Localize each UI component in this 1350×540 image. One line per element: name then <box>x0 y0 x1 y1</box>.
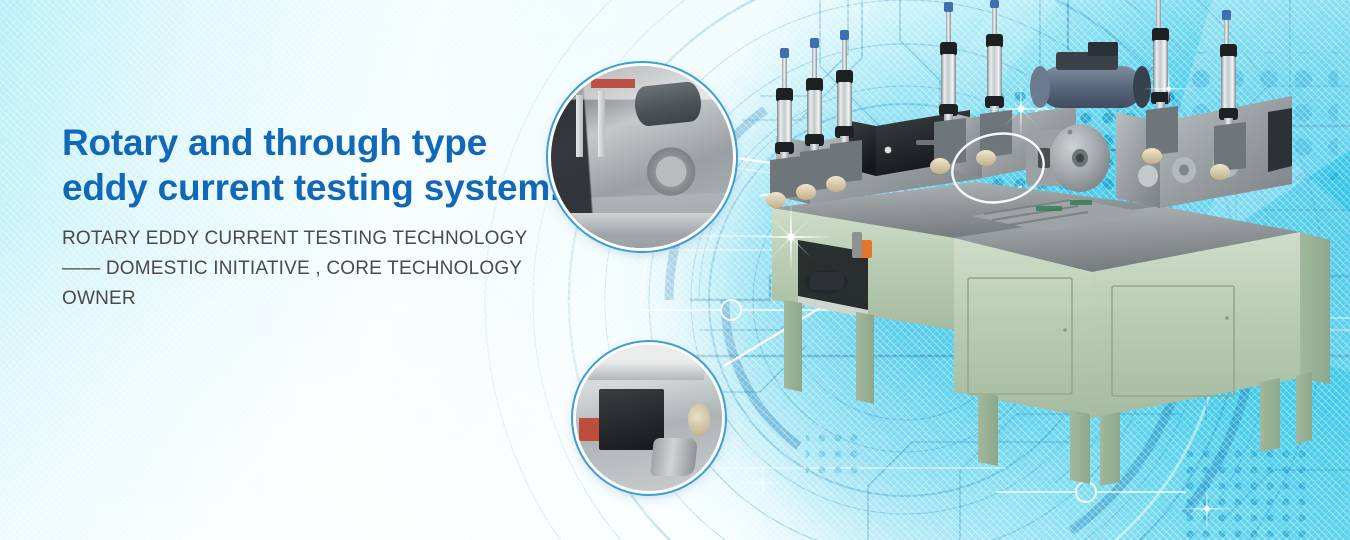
promotional-banner: Rotary and through type eddy current tes… <box>0 0 1350 540</box>
subtitle-line-2: —— DOMESTIC INITIATIVE , CORE TECHNOLOGY… <box>62 254 582 314</box>
probe-assembly <box>1210 10 1246 180</box>
probe-assembly <box>930 2 966 174</box>
inset-photo-through-coil[interactable] <box>576 345 722 491</box>
photo-detail-red-block <box>579 418 599 441</box>
probe-assembly <box>976 0 1012 166</box>
headline-line-1: Rotary and through type <box>62 122 487 163</box>
photo-detail-post-a <box>576 95 583 157</box>
photo-detail-roller <box>688 403 710 435</box>
photo-detail-shelf <box>588 363 705 381</box>
headline-line-2: eddy current testing system. <box>62 167 560 208</box>
photo-detail-red-strip <box>591 79 635 88</box>
product-machine-photo <box>740 0 1350 540</box>
inset-photo-rotary-head[interactable] <box>551 66 733 248</box>
banner-copy: Rotary and through type eddy current tes… <box>62 120 582 314</box>
probe-assembly <box>796 38 832 200</box>
page-title: Rotary and through type eddy current tes… <box>62 120 582 210</box>
photo-detail-base-plate <box>562 213 722 237</box>
subtitle-line-1: ROTARY EDDY CURRENT TESTING TECHNOLOGY <box>62 224 582 254</box>
inset-photo-image <box>551 66 733 248</box>
photo-detail-drum <box>633 81 702 128</box>
probe-assembly <box>766 48 802 208</box>
drive-motor <box>1030 42 1151 108</box>
probe-assembly <box>826 30 862 192</box>
inset-photo-image <box>576 345 722 491</box>
photo-detail-post-b <box>598 91 605 157</box>
photo-detail-cone <box>650 438 698 476</box>
